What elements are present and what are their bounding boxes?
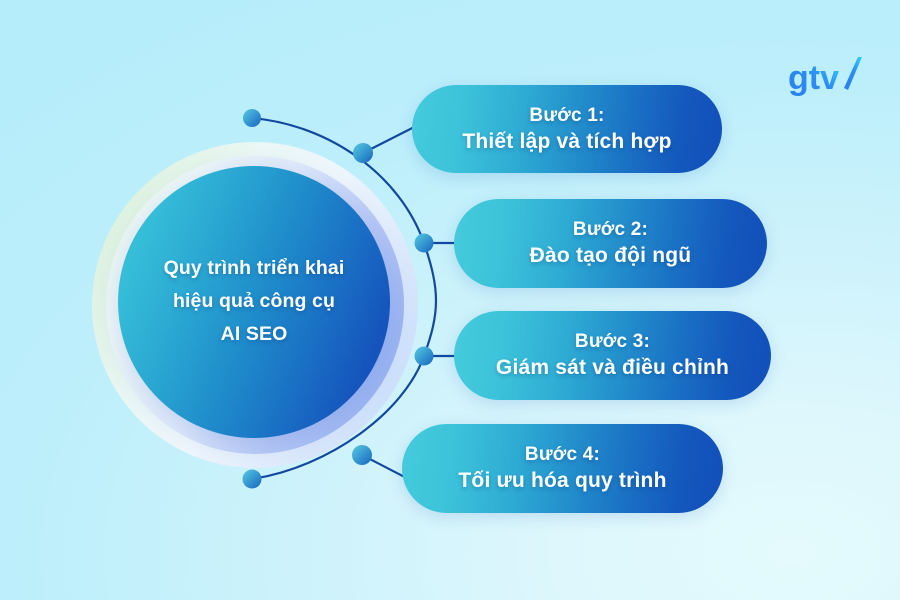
step-card-2-number: Bước 2: <box>573 219 648 241</box>
endpoint-node-bottom <box>243 470 262 489</box>
hub-title-line-2: hiệu quả công cụ <box>173 291 335 313</box>
step-card-4[interactable]: Bước 4: Tối ưu hóa quy trình <box>402 424 723 513</box>
hub-title-line-3: AI SEO <box>221 324 288 346</box>
step-card-4-number: Bước 4: <box>525 444 600 466</box>
hub-title: Quy trình triển khai hiệu quả công cụ AI… <box>118 166 390 438</box>
step-card-4-label: Tối ưu hóa quy trình <box>458 469 666 493</box>
step-card-2-label: Đào tạo đội ngũ <box>530 244 692 268</box>
step-card-1[interactable]: Bước 1: Thiết lập và tích hợp <box>412 85 722 173</box>
step-card-1-label: Thiết lập và tích hợp <box>462 130 671 154</box>
hub-title-line-1: Quy trình triển khai <box>164 258 345 280</box>
gtv-logo[interactable]: gtv <box>788 54 864 102</box>
step-card-2[interactable]: Bước 2: Đào tạo đội ngũ <box>454 199 767 288</box>
step-card-3-label: Giám sát và điều chỉnh <box>496 356 729 380</box>
gtv-logo-swoosh-icon <box>844 57 862 90</box>
central-hub: Quy trình triển khai hiệu quả công cụ AI… <box>92 142 418 468</box>
step-card-3-number: Bước 3: <box>575 331 650 353</box>
infographic-canvas: Quy trình triển khai hiệu quả công cụ AI… <box>0 0 900 600</box>
step-card-1-number: Bước 1: <box>529 105 604 127</box>
gtv-logo-wordmark: gtv <box>788 59 839 97</box>
step-card-3[interactable]: Bước 3: Giám sát và điều chỉnh <box>454 311 771 400</box>
endpoint-node-top <box>243 109 261 127</box>
